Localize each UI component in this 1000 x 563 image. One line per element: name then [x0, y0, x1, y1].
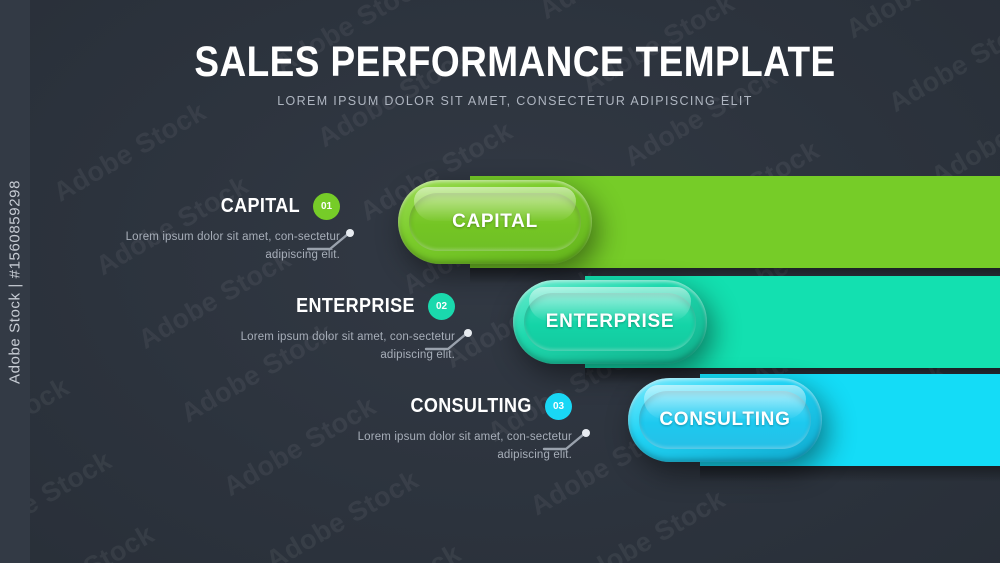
- badge-enterprise: 02: [428, 293, 455, 320]
- info-enterprise-title: ENTERPRISE: [296, 295, 415, 318]
- pill-enterprise-label: ENTERPRISE: [546, 311, 674, 333]
- info-capital-title: CAPITAL: [221, 195, 300, 218]
- info-enterprise-description: Lorem ipsum dolor sit amet, con-sectetur…: [205, 329, 455, 365]
- info-capital-description: Lorem ipsum dolor sit amet, con-sectetur…: [90, 229, 340, 265]
- page-title: SALES PERFORMANCE TEMPLATE: [98, 40, 932, 85]
- left-rail: Adobe Stock | #1560859298: [0, 0, 30, 563]
- info-capital-head: CAPITAL 01: [90, 193, 340, 220]
- pill-enterprise[interactable]: ENTERPRISE: [513, 280, 707, 364]
- sparkline-capital-icon: [306, 228, 358, 254]
- pill-capital-label: CAPITAL: [452, 211, 538, 233]
- page-subtitle: LOREM IPSUM DOLOR SIT AMET, CONSECTETUR …: [30, 94, 1000, 108]
- pill-capital[interactable]: CAPITAL: [398, 180, 592, 264]
- info-consulting-description: Lorem ipsum dolor sit amet, con-sectetur…: [322, 429, 572, 465]
- infographic-canvas: Adobe StockAdobe StockAdobe StockAdobe S…: [0, 0, 1000, 563]
- info-consulting-head: CONSULTING 03: [322, 393, 572, 420]
- info-capital: CAPITAL 01 Lorem ipsum dolor sit amet, c…: [90, 193, 340, 265]
- badge-capital: 01: [313, 193, 340, 220]
- info-consulting: CONSULTING 03 Lorem ipsum dolor sit amet…: [322, 393, 572, 465]
- info-consulting-title: CONSULTING: [411, 395, 532, 418]
- sparkline-enterprise-icon: [424, 328, 476, 354]
- sparkline-consulting-icon: [542, 428, 594, 454]
- pill-consulting-label: CONSULTING: [659, 409, 790, 431]
- info-enterprise-head: ENTERPRISE 02: [205, 293, 455, 320]
- info-enterprise: ENTERPRISE 02 Lorem ipsum dolor sit amet…: [205, 293, 455, 365]
- stock-credit-label: Adobe Stock | #1560859298: [7, 179, 24, 383]
- header: SALES PERFORMANCE TEMPLATE LOREM IPSUM D…: [30, 40, 1000, 108]
- pill-consulting[interactable]: CONSULTING: [628, 378, 822, 462]
- badge-consulting: 03: [545, 393, 572, 420]
